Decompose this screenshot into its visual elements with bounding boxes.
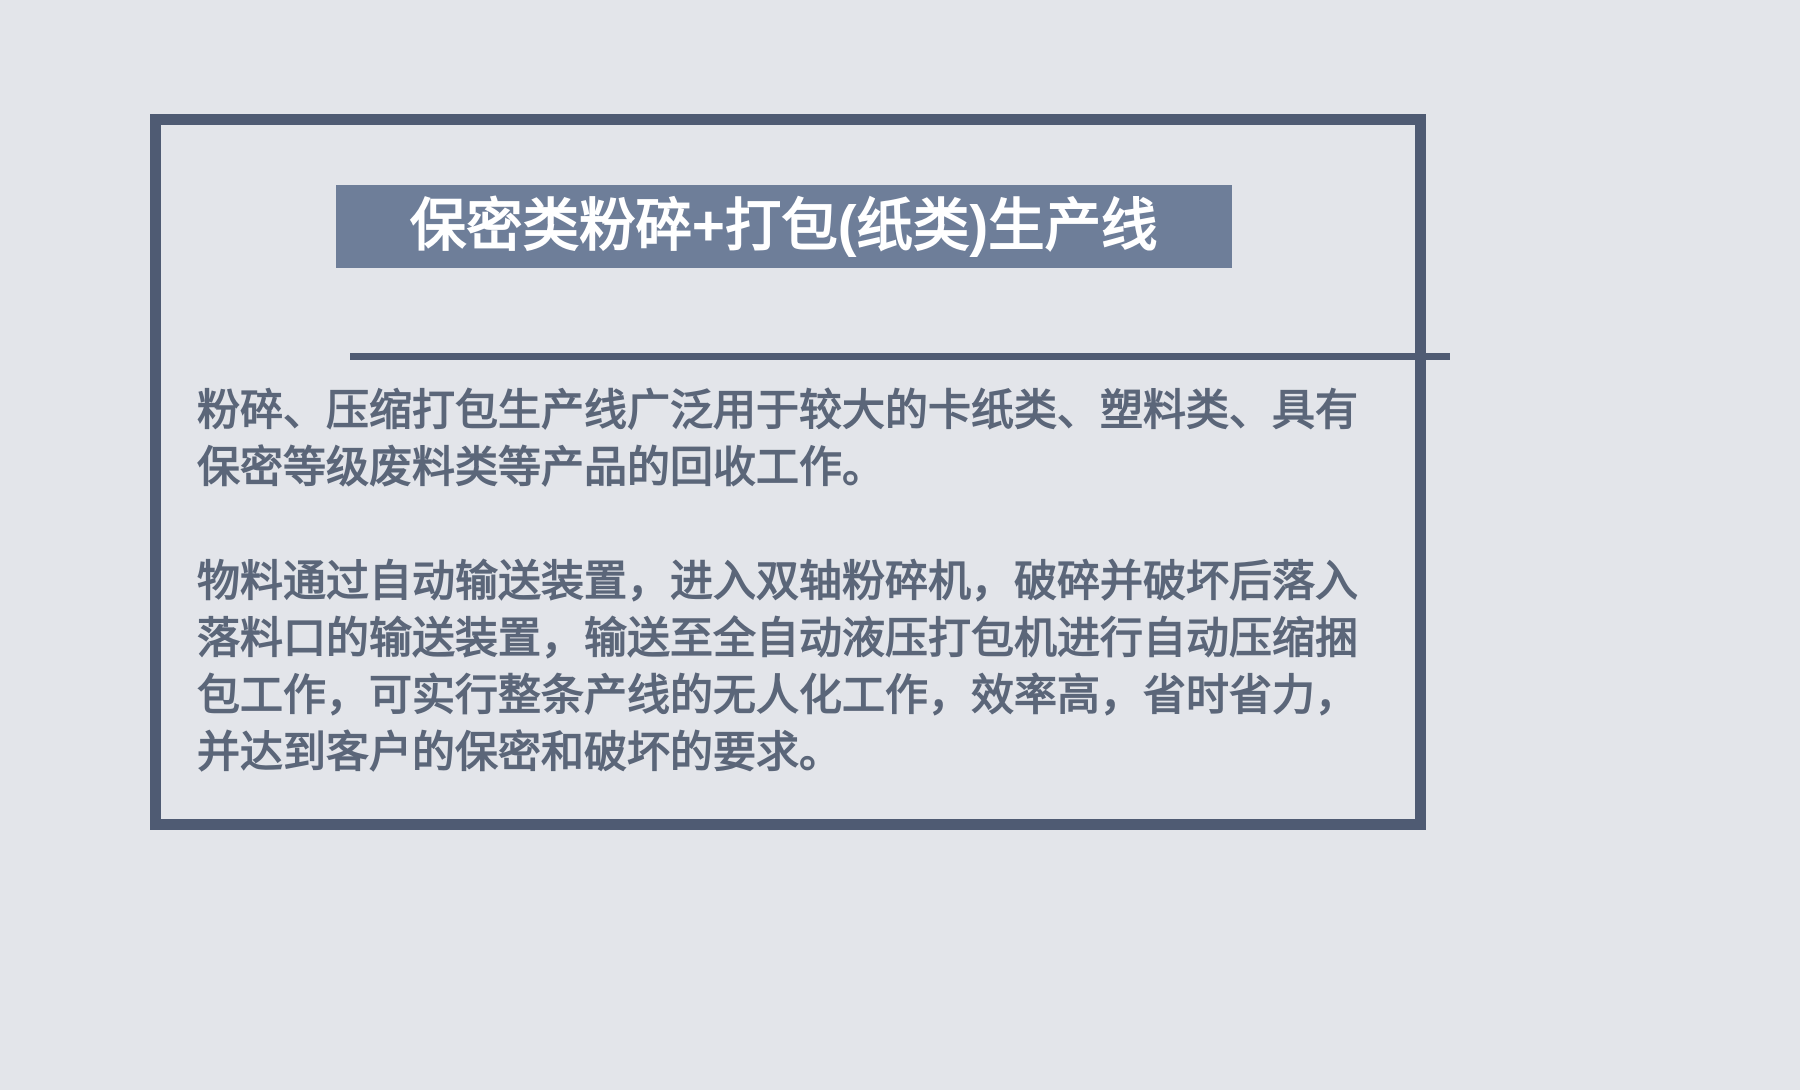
body-copy: 粉碎、压缩打包生产线广泛用于较大的卡纸类、塑料类、具有保密等级废料类等产品的回收… — [197, 383, 1392, 782]
page-title: 保密类粉碎+打包(纸类)生产线 — [410, 198, 1158, 255]
slide-canvas: 保密类粉碎+打包(纸类)生产线 粉碎、压缩打包生产线广泛用于较大的卡纸类、塑料类… — [0, 0, 1800, 1090]
body-paragraph-1: 粉碎、压缩打包生产线广泛用于较大的卡纸类、塑料类、具有保密等级废料类等产品的回收… — [197, 383, 1392, 497]
body-paragraph-2: 物料通过自动输送装置，进入双轴粉碎机，破碎并破坏后落入落料口的输送装置，输送至全… — [197, 554, 1392, 782]
title-banner: 保密类粉碎+打包(纸类)生产线 — [336, 185, 1232, 268]
title-divider-rule — [350, 353, 1450, 360]
